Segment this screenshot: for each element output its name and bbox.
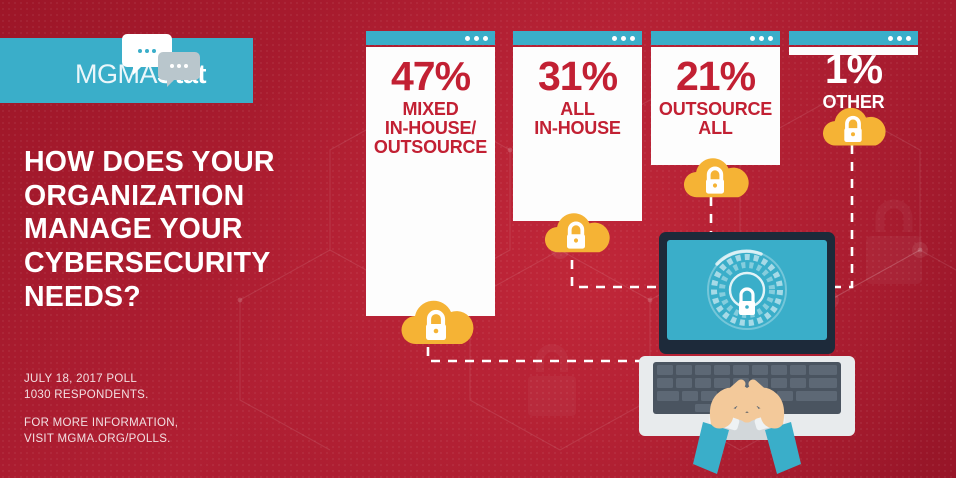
bar-value: 47% (366, 47, 495, 97)
card-body: 47% MIXED IN-HOUSE/ OUTSOURCE (366, 47, 495, 316)
window-dot-icon (759, 36, 764, 41)
bar-card-outsource-all[interactable]: 21% OUTSOURCE ALL (651, 31, 780, 165)
card-body: 31% ALL IN-HOUSE (513, 47, 642, 221)
window-dot-icon (465, 36, 470, 41)
window-dot-icon (750, 36, 755, 41)
bar-label: ALL IN-HOUSE (513, 97, 642, 138)
window-dot-icon (621, 36, 626, 41)
cloud-lock-icon (818, 102, 888, 149)
cloud-lock-icon (540, 207, 612, 256)
bar-value: 21% (651, 47, 780, 97)
card-titlebar (366, 31, 495, 45)
window-dot-icon (768, 36, 773, 41)
bar-label: MIXED IN-HOUSE/ OUTSOURCE (366, 97, 495, 157)
card-body: 21% OUTSOURCE ALL (651, 47, 780, 165)
window-dot-icon (630, 36, 635, 41)
window-dot-icon (906, 36, 911, 41)
window-dot-icon (888, 36, 893, 41)
bar-value: 31% (513, 47, 642, 97)
bar-value: 1% (789, 49, 918, 90)
card-titlebar (513, 31, 642, 45)
window-dot-icon (612, 36, 617, 41)
cloud-lock-icon (679, 152, 751, 201)
bar-card-other[interactable]: 1% OTHER (789, 31, 918, 61)
cloud-lock-icon (396, 294, 476, 348)
window-dot-icon (483, 36, 488, 41)
card-titlebar (789, 31, 918, 45)
laptop-security-icon (637, 232, 857, 478)
window-dot-icon (474, 36, 479, 41)
bar-label: OUTSOURCE ALL (651, 97, 780, 138)
infographic-canvas: MGMAStat HOW DOES YOUR ORGANIZATION MANA… (0, 0, 956, 478)
bar-card-mixed[interactable]: 47% MIXED IN-HOUSE/ OUTSOURCE (366, 31, 495, 316)
bar-card-all-in-house[interactable]: 31% ALL IN-HOUSE (513, 31, 642, 221)
card-titlebar (651, 31, 780, 45)
window-dot-icon (897, 36, 902, 41)
